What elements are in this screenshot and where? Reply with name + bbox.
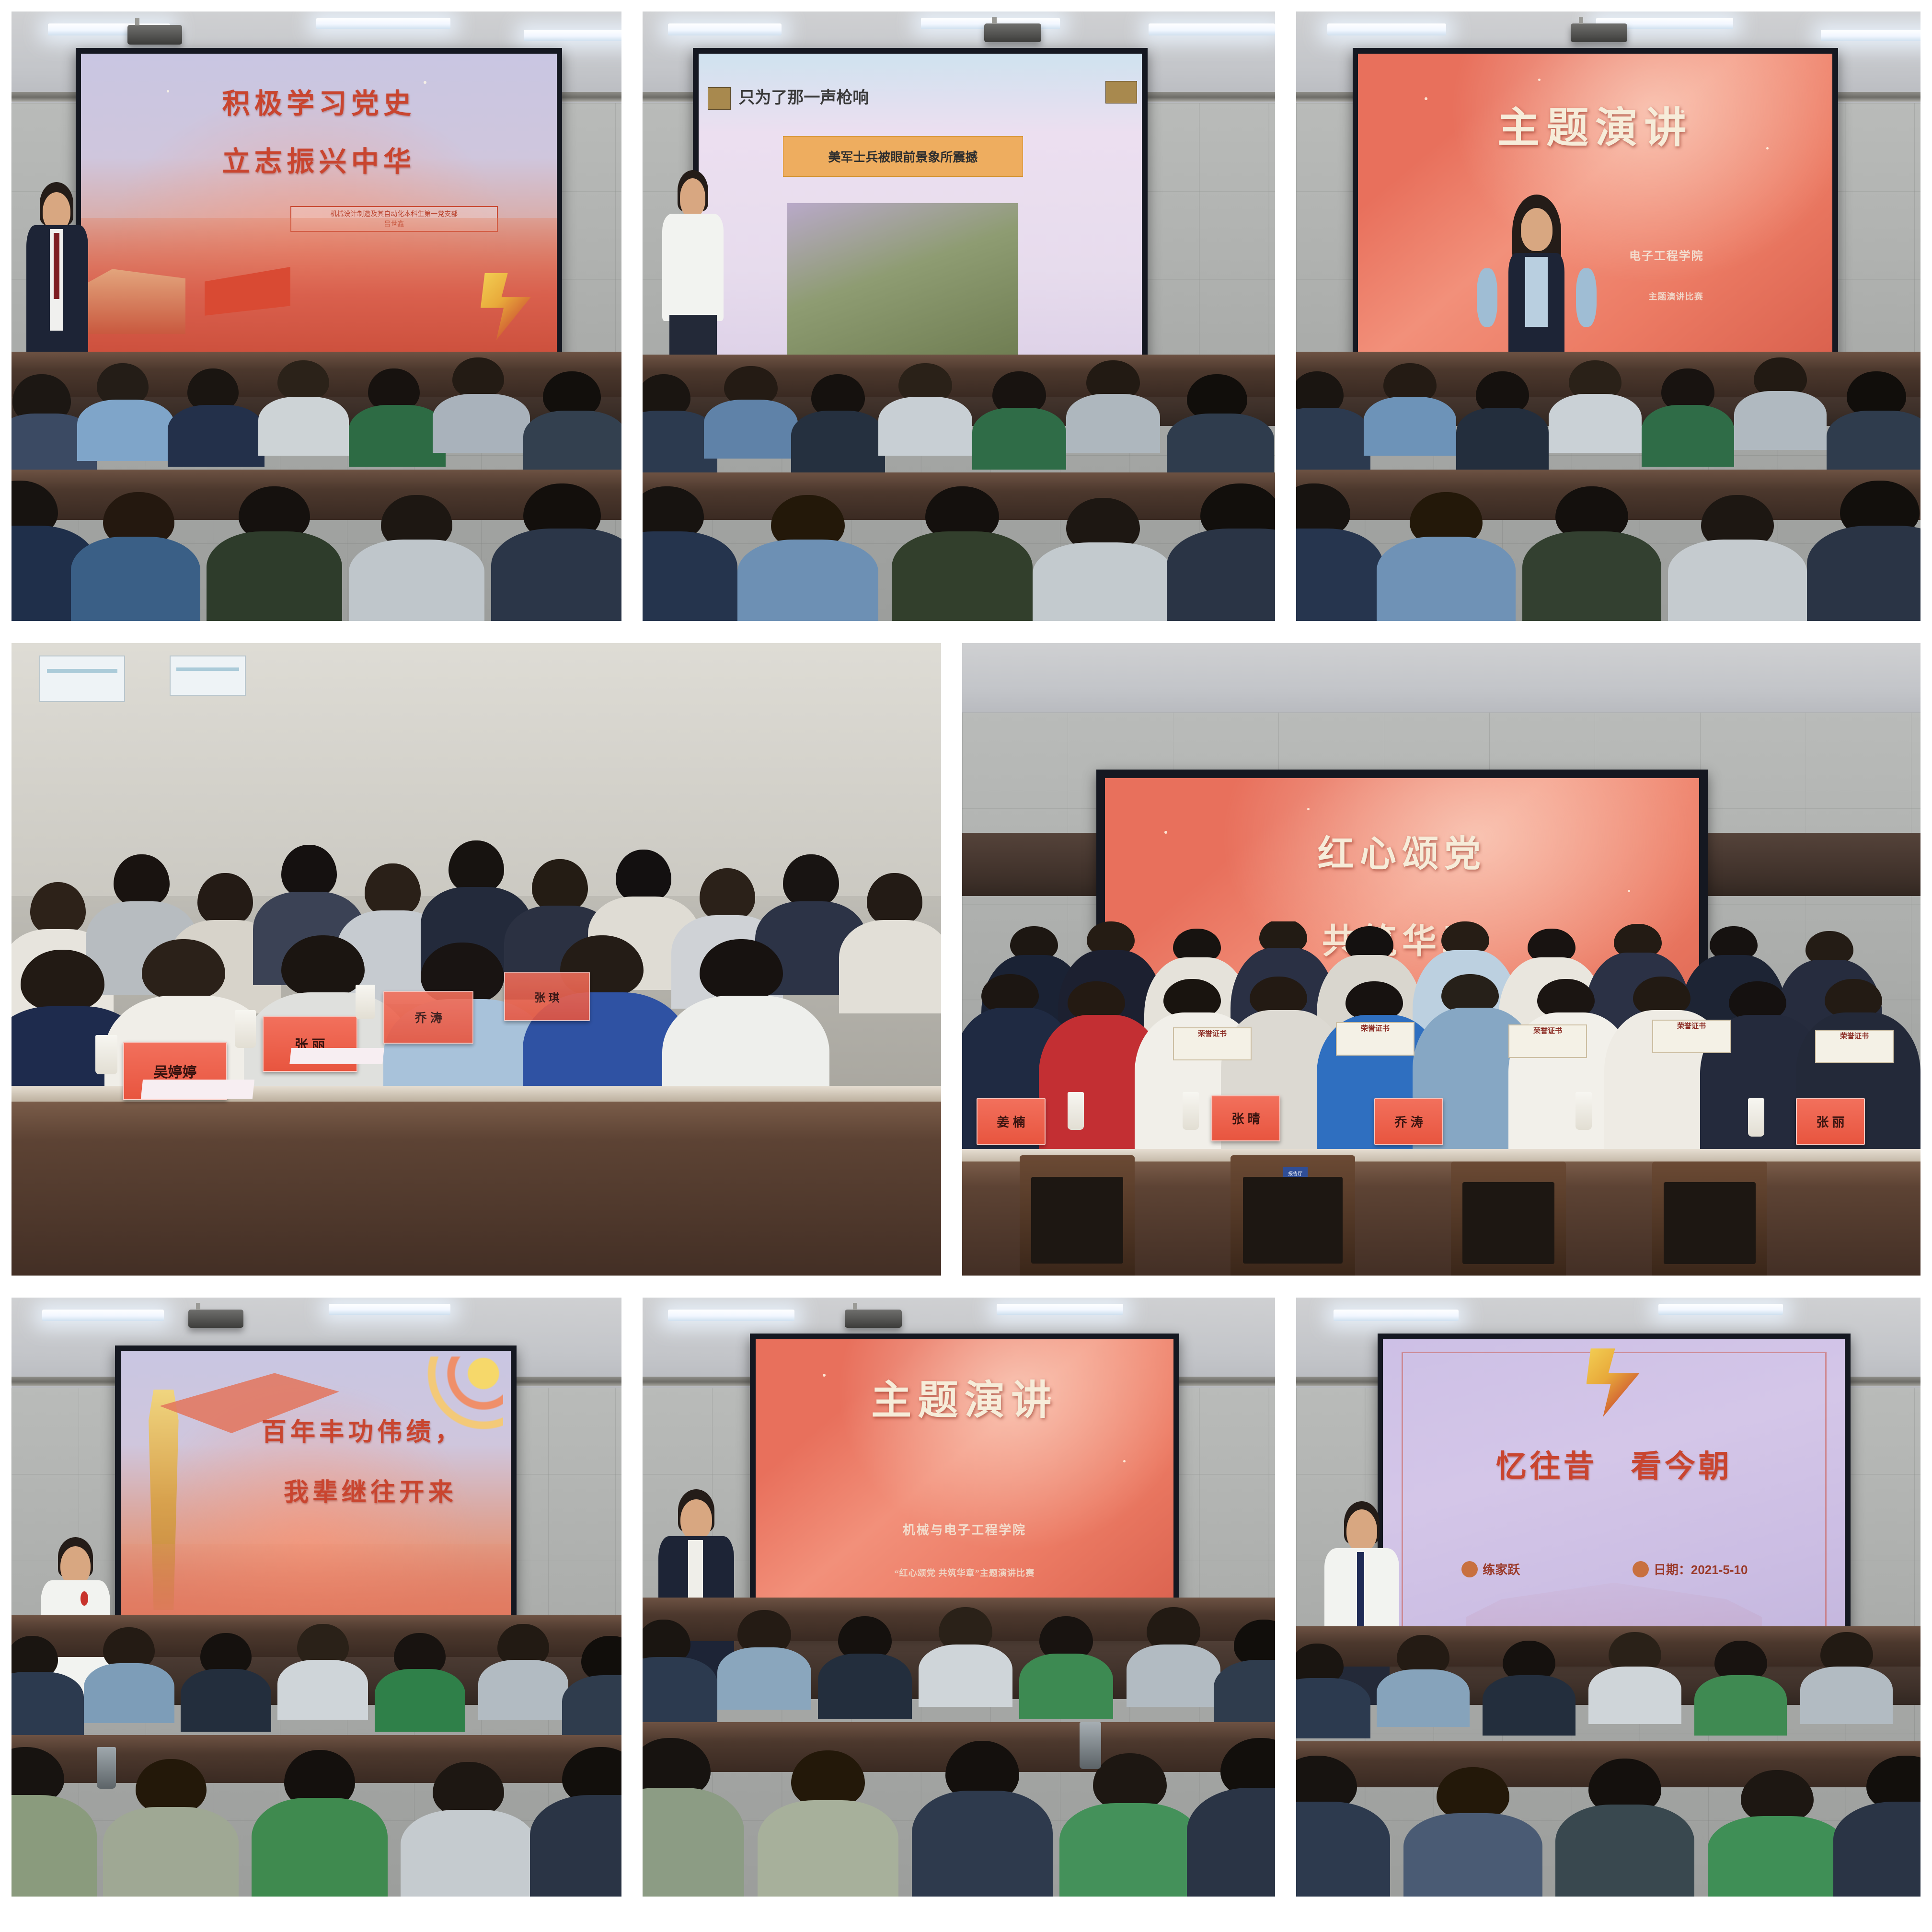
ceiling-light [1327, 23, 1446, 35]
projector-icon [188, 1310, 243, 1328]
certificate: 荣誉证书 [1815, 1030, 1894, 1063]
photo-panel-5[interactable]: 红心颂党 共筑华章 [962, 643, 1920, 1276]
slide-8-line1: 忆往昔 看今朝 [1383, 1442, 1845, 1486]
projection-screen-frame: 主题演讲 电子工程学院 主题演讲比赛 [1353, 48, 1838, 370]
slide-5-line1: 红心颂党 [1105, 824, 1699, 877]
photo-panel-3[interactable]: 主题演讲 电子工程学院 主题演讲比赛 [1296, 11, 1920, 621]
collage-row-1: 积极学习党史 立志振兴中华 机械设计制造及其自动化本科生第一党支部 吕世鑫 [11, 11, 1920, 621]
judges-scene: 吴婷婷 张 丽 乔 涛 张 琪 [11, 643, 941, 1276]
document-paper [289, 1048, 384, 1064]
certificate: 荣誉证书 [1173, 1027, 1252, 1060]
projector-icon [984, 23, 1041, 42]
slide-2-corner-marker [1105, 81, 1138, 103]
slide-6-line2: 我辈继往开来 [238, 1472, 503, 1508]
slide-2-banner: 美军士兵被眼前景象所震撼 [783, 136, 1023, 177]
certificate: 荣誉证书 [1508, 1024, 1587, 1058]
photo-panel-8[interactable]: 忆往昔 看今朝 练家跃 日期：2021-5-10 [1296, 1298, 1920, 1897]
award-stage-scene: 红心颂党 共筑华章 [962, 643, 1920, 1276]
slide-2-photo [787, 203, 1018, 358]
slide-2-bullet-marker [708, 87, 731, 110]
slide-6-line1: 百年丰功伟绩， [222, 1412, 503, 1448]
collage-row-2: 吴婷婷 张 丽 乔 涛 张 琪 [11, 643, 1920, 1276]
slide-8-presenter: 练家跃 [1461, 1560, 1520, 1578]
lecture-hall-scene-3: 主题演讲 电子工程学院 主题演讲比赛 [1296, 11, 1920, 621]
ceiling-light [316, 18, 450, 29]
name-placard: 张 丽 [1796, 1098, 1865, 1144]
projector-icon [1571, 23, 1627, 42]
conference-table [11, 1102, 941, 1276]
slide-2: 只为了那一声枪响 美军士兵被眼前景象所震撼 [699, 54, 1141, 358]
ceiling-light [997, 1304, 1123, 1315]
paper-cup [1068, 1092, 1084, 1130]
ceiling-light [668, 23, 782, 35]
ceiling [962, 643, 1920, 719]
document-paper [141, 1080, 254, 1099]
name-placard: 姜 楠 [977, 1098, 1046, 1144]
person-icon [1461, 1561, 1478, 1577]
name-placard: 张 晴 [1211, 1095, 1280, 1141]
ceiling-light [1334, 1310, 1459, 1321]
paper-cup [235, 1010, 256, 1048]
photo-panel-7[interactable]: 主题演讲 机械与电子工程学院 “红心颂党 共筑华章”主题演讲比赛 [643, 1298, 1276, 1897]
paper-cup [1183, 1092, 1199, 1130]
slide-8-date: 日期：2021-5-10 [1633, 1560, 1748, 1578]
lecture-hall-scene-7: 主题演讲 机械与电子工程学院 “红心颂党 共筑华章”主题演讲比赛 [643, 1298, 1276, 1897]
name-placard: 乔 涛 [1374, 1098, 1443, 1144]
projector-icon [127, 25, 183, 45]
audience-area [643, 1585, 1276, 1897]
lecture-hall-scene-6: 百年丰功伟绩， 我辈继往开来 [11, 1298, 621, 1897]
slide-7-line1: 主题演讲 [756, 1368, 1173, 1426]
ceiling-light [1821, 30, 1920, 41]
projector-icon [845, 1310, 902, 1328]
paper-cup [1748, 1098, 1764, 1136]
photo-panel-4[interactable]: 吴婷婷 张 丽 乔 涛 张 琪 [11, 643, 941, 1276]
paper-cup [356, 985, 375, 1020]
seat-number-tag: 报告厅9326 [1283, 1167, 1308, 1186]
projection-screen-frame: 只为了那一声枪响 美军士兵被眼前景象所震撼 [693, 48, 1147, 364]
chair [1020, 1155, 1135, 1276]
ceiling-light [1149, 23, 1275, 35]
slide-6: 百年丰功伟绩， 我辈继往开来 [121, 1351, 511, 1626]
lecture-hall-scene-2: 只为了那一声枪响 美军士兵被眼前景象所震撼 [643, 11, 1276, 621]
slide-8: 忆往昔 看今朝 练家跃 日期：2021-5-10 [1383, 1339, 1845, 1651]
ceiling-light [1658, 1304, 1783, 1315]
name-placard: 乔 涛 [383, 991, 473, 1044]
thermos-bottle [1080, 1722, 1101, 1769]
audience-area [643, 341, 1276, 621]
chair [1451, 1161, 1566, 1276]
slide-7-sub-event: “红心颂党 共筑华章”主题演讲比赛 [756, 1566, 1173, 1579]
slide-7-sub-org: 机械与电子工程学院 [756, 1520, 1173, 1538]
slide-3-line1: 主题演讲 [1358, 94, 1832, 155]
paper-cup [1575, 1092, 1592, 1130]
chair [1652, 1161, 1767, 1276]
slide-1-subtitle-org: 机械设计制造及其自动化本科生第一党支部 [330, 210, 458, 218]
ceiling-light [42, 1310, 164, 1321]
audience-area [1296, 1609, 1920, 1897]
slide-3: 主题演讲 电子工程学院 主题演讲比赛 [1358, 54, 1832, 365]
ceiling-light [524, 30, 621, 41]
thermos-bottle [97, 1747, 116, 1789]
projection-screen-frame: 百年丰功伟绩， 我辈继往开来 [115, 1345, 516, 1632]
audience-area [1296, 341, 1920, 621]
slide-1: 积极学习党史 立志振兴中华 机械设计制造及其自动化本科生第一党支部 吕世鑫 [81, 54, 557, 358]
paper-cup [95, 1035, 118, 1074]
wall-poster [170, 655, 246, 695]
projection-screen-frame: 忆往昔 看今朝 练家跃 日期：2021-5-10 [1378, 1334, 1851, 1656]
slide-2-heading: 只为了那一声枪响 [738, 84, 869, 108]
ceiling-light [668, 1310, 794, 1321]
certificate: 荣誉证书 [1336, 1022, 1414, 1055]
photo-panel-2[interactable]: 只为了那一声枪响 美军士兵被眼前景象所震撼 [643, 11, 1276, 621]
photo-panel-6[interactable]: 百年丰功伟绩， 我辈继往开来 [11, 1298, 621, 1897]
slide-1-line2: 立志振兴中华 [81, 139, 557, 179]
ceiling-light [329, 1304, 451, 1315]
projection-screen-frame: 积极学习党史 立志振兴中华 机械设计制造及其自动化本科生第一党支部 吕世鑫 [76, 48, 563, 364]
certificate: 荣誉证书 [1652, 1020, 1731, 1053]
collage-row-3: 百年丰功伟绩， 我辈继往开来 [11, 1298, 1920, 1897]
wall-poster [39, 655, 125, 701]
lecture-hall-scene-8: 忆往昔 看今朝 练家跃 日期：2021-5-10 [1296, 1298, 1920, 1897]
audience-area [11, 1597, 621, 1897]
slide-7: 主题演讲 机械与电子工程学院 “红心颂党 共筑华章”主题演讲比赛 [756, 1339, 1173, 1627]
slide-1-line1: 积极学习党史 [81, 81, 557, 121]
photo-panel-1[interactable]: 积极学习党史 立志振兴中华 机械设计制造及其自动化本科生第一党支部 吕世鑫 [11, 11, 621, 621]
lecture-hall-scene-1: 积极学习党史 立志振兴中华 机械设计制造及其自动化本科生第一党支部 吕世鑫 [11, 11, 621, 621]
calendar-icon [1633, 1561, 1649, 1577]
photo-collage: 积极学习党史 立志振兴中华 机械设计制造及其自动化本科生第一党支部 吕世鑫 [0, 0, 1932, 1932]
name-placard: 张 琪 [504, 972, 590, 1021]
audience-area [11, 341, 621, 621]
chair: 报告厅9326 [1230, 1155, 1355, 1276]
